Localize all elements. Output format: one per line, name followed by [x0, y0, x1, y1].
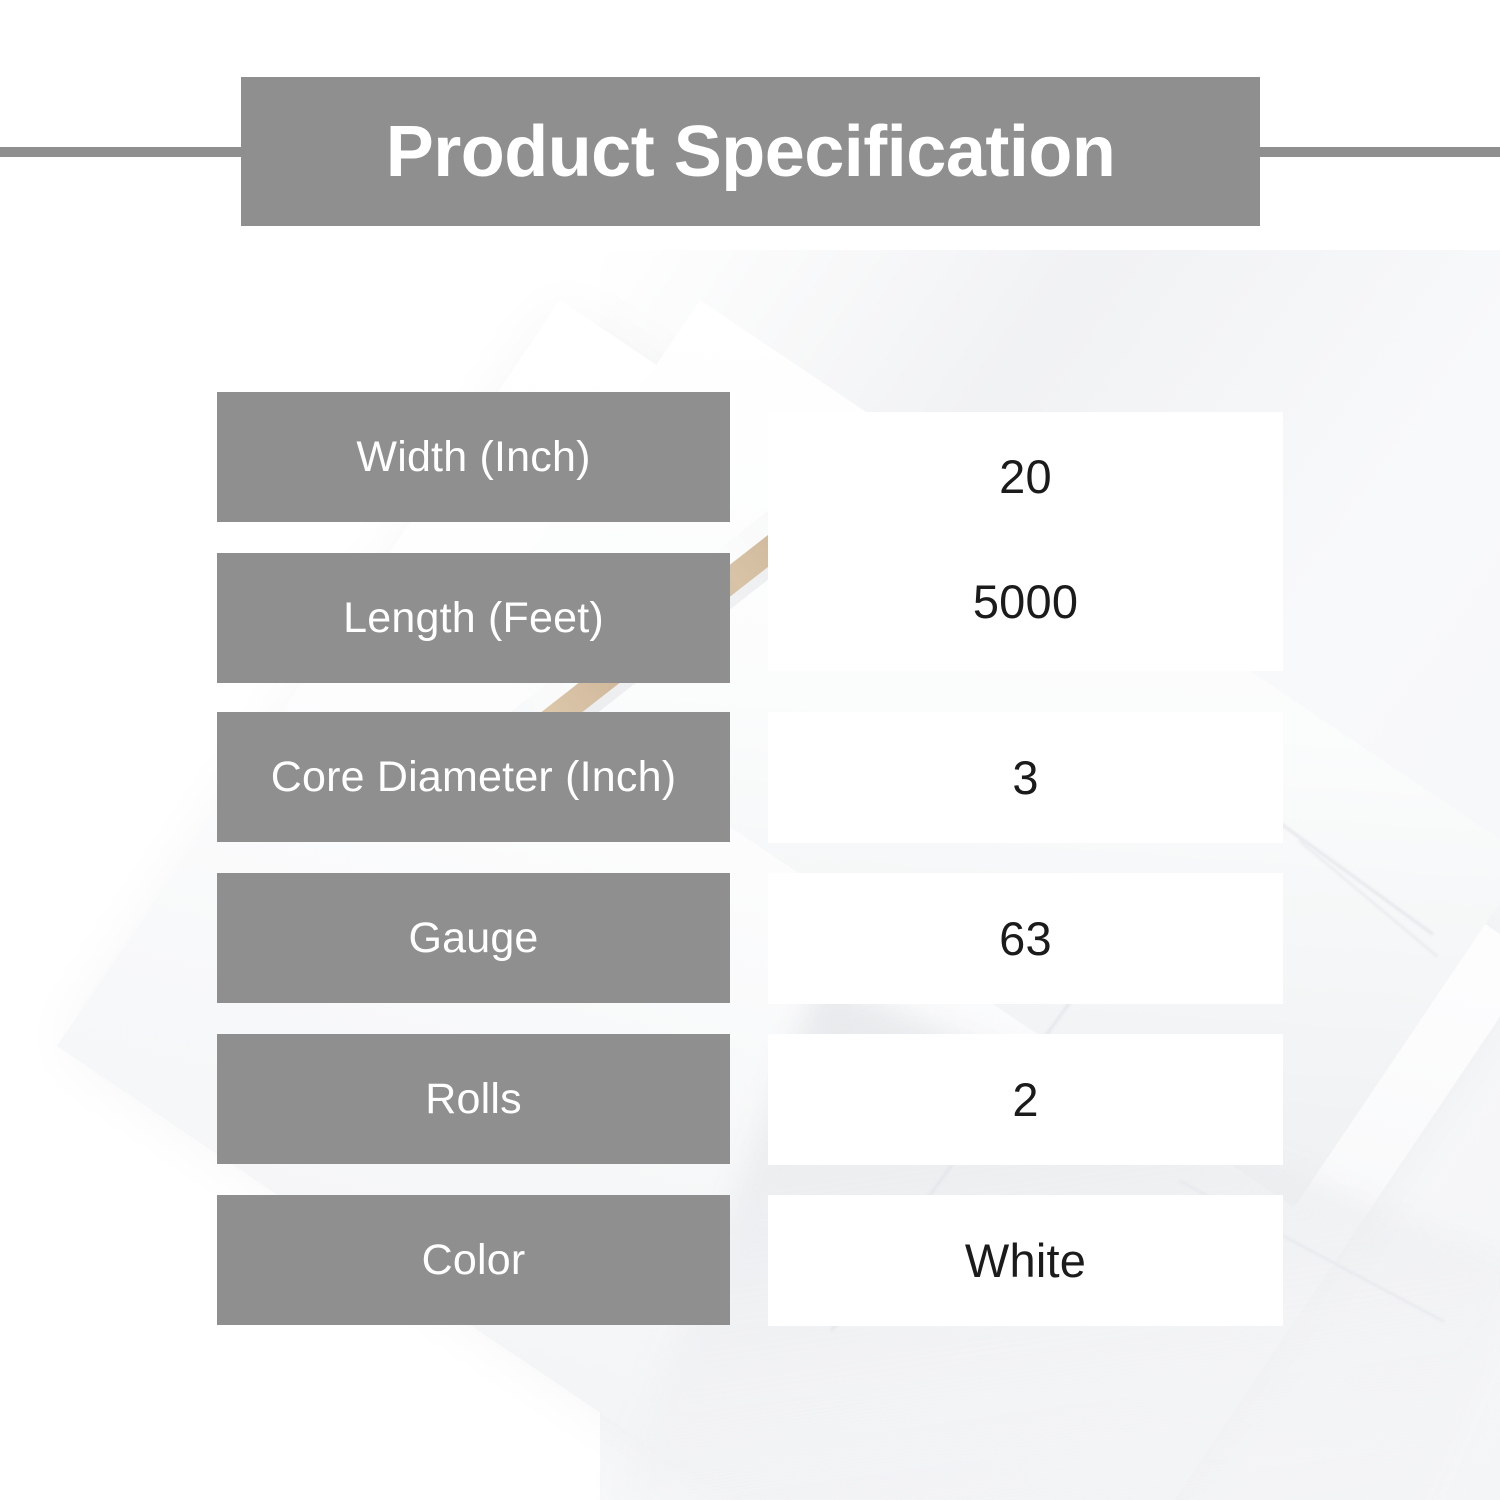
spec-value-text: 63: [999, 913, 1052, 965]
spec-value-text: 2: [1012, 1074, 1038, 1126]
spec-value-text: 3: [1012, 752, 1038, 804]
spec-value-cell: 5000: [768, 533, 1283, 671]
spec-value-cell: White: [768, 1195, 1283, 1326]
spec-value-text: White: [965, 1235, 1086, 1287]
spec-value-cell: 63: [768, 873, 1283, 1004]
spec-label-cell: Core Diameter (Inch): [217, 712, 730, 842]
spec-value-cell: 20: [768, 412, 1283, 542]
spec-label-cell: Gauge: [217, 873, 730, 1003]
spec-value-cell: 2: [768, 1034, 1283, 1165]
spec-value-text: 5000: [973, 576, 1078, 628]
spec-value-cell: 3: [768, 712, 1283, 843]
spec-label-cell: Width (Inch): [217, 392, 730, 522]
spec-label-text: Gauge: [398, 914, 548, 962]
spec-label-text: Length (Feet): [333, 594, 614, 642]
spec-value-text: 20: [999, 451, 1052, 503]
spec-label-cell: Length (Feet): [217, 553, 730, 683]
spec-label-text: Color: [412, 1236, 536, 1284]
spec-label-text: Core Diameter (Inch): [261, 753, 686, 801]
spec-label-text: Rolls: [415, 1075, 532, 1123]
product-specification-page: Product Specification Width (Inch) 20 Le…: [0, 0, 1500, 1500]
specification-table: Width (Inch) 20 Length (Feet) 5000 Core …: [0, 0, 1500, 1500]
spec-label-text: Width (Inch): [346, 433, 600, 481]
spec-label-cell: Color: [217, 1195, 730, 1325]
spec-label-cell: Rolls: [217, 1034, 730, 1164]
